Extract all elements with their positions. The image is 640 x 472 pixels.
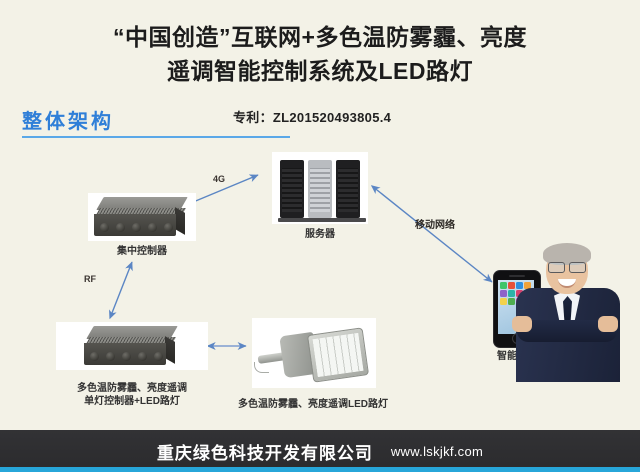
arrow-label-rf: RF xyxy=(84,274,96,284)
node-concentrator[interactable]: 集中控制器 xyxy=(88,193,196,258)
node-server[interactable]: 服务器 xyxy=(272,152,368,241)
footer-accent-strip xyxy=(0,467,640,472)
patent-number: 专利：ZL201520493805.4 xyxy=(233,107,391,126)
slide-title: “中国创造”互联网+多色温防雾霾、亮度 遥调智能控制系统及LED路灯 xyxy=(0,20,640,88)
title-line-2: 遥调智能控制系统及LED路灯 xyxy=(0,54,640,88)
businessman-photo xyxy=(510,246,628,382)
presentation-slide: “中国创造”互联网+多色温防雾霾、亮度 遥调智能控制系统及LED路灯 整体架构 … xyxy=(0,0,640,472)
arrow-rf xyxy=(110,262,132,318)
section-heading: 整体架构 xyxy=(22,105,114,134)
arrow-label-mobile-network: 移动网络 xyxy=(415,216,455,231)
node-label-led-street-lamp: 多色温防雾霾、亮度遥调LED路灯 xyxy=(218,398,408,411)
node-label-server: 服务器 xyxy=(272,228,368,241)
arrow-label-4g: 4G xyxy=(213,174,225,184)
server-tower-icon xyxy=(272,152,368,224)
controller-box-icon xyxy=(88,193,196,241)
footer-company-name: 重庆绿色科技开发有限公司 xyxy=(157,439,373,464)
footer-website[interactable]: www.lskjkf.com xyxy=(391,444,483,459)
section-heading-label: 整体架构 xyxy=(22,109,114,133)
node-label-single-lamp-controller-line2: 单灯控制器+LED路灯 xyxy=(56,395,208,408)
arrow-mobile-network xyxy=(372,186,492,282)
section-heading-underline xyxy=(22,136,290,138)
node-label-single-lamp-controller-line1: 多色温防雾霾、亮度遥调 xyxy=(56,382,208,395)
controller-box-icon xyxy=(56,322,208,370)
footer-bar: 重庆绿色科技开发有限公司 www.lskjkf.com xyxy=(0,430,640,472)
node-label-concentrator: 集中控制器 xyxy=(88,245,196,258)
street-lamp-icon xyxy=(252,318,376,388)
node-single-lamp-controller[interactable]: 多色温防雾霾、亮度遥调 单灯控制器+LED路灯 xyxy=(56,322,208,408)
node-led-street-lamp[interactable]: 多色温防雾霾、亮度遥调LED路灯 xyxy=(252,318,376,411)
title-line-1: “中国创造”互联网+多色温防雾霾、亮度 xyxy=(0,20,640,54)
